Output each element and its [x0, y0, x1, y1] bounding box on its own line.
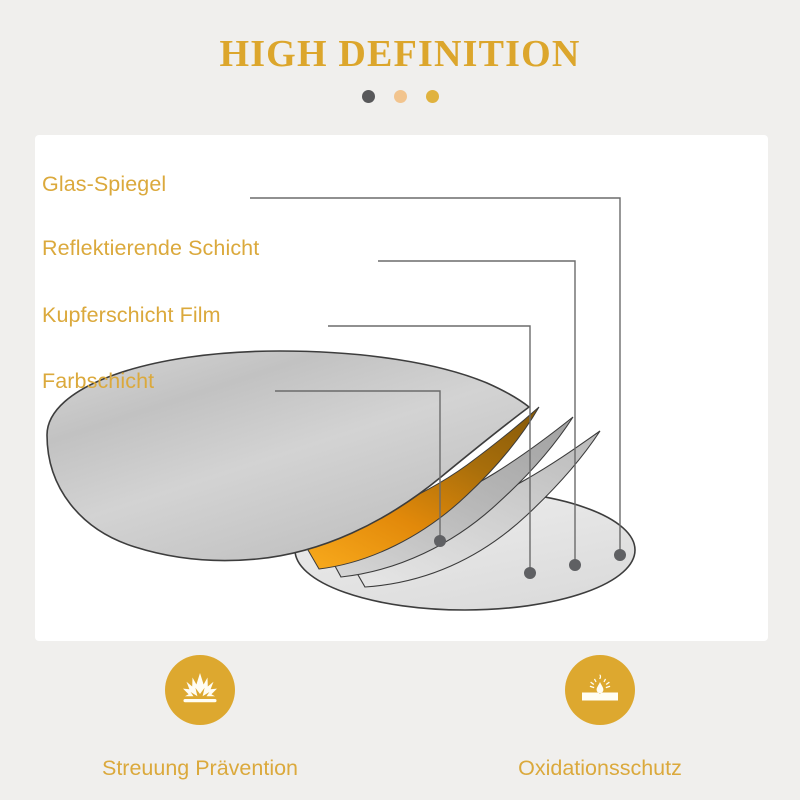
callout-label-glas-spiegel: Glas-Spiegel	[42, 172, 166, 197]
header: HIGH DEFINITION	[0, 0, 800, 135]
feature-label-2: Oxidationsschutz	[518, 756, 682, 781]
separator-dot-dark	[362, 90, 375, 103]
page-title: HIGH DEFINITION	[0, 32, 800, 76]
corrosion-drop-icon	[578, 668, 622, 712]
callout-label-kupferschicht-film: Kupferschicht Film	[42, 303, 221, 328]
callout-label-farbschicht: Farbschicht	[42, 369, 154, 394]
feature-oxidationsschutz: Oxidationsschutz	[400, 655, 800, 781]
callout-label-reflektierende-schicht: Reflektierende Schicht	[42, 236, 259, 261]
feature-list: Streuung Prävention	[0, 655, 800, 781]
feature-streuung-praevention: Streuung Prävention	[0, 655, 400, 781]
separator-dot-gold	[426, 90, 439, 103]
feature-badge-1	[165, 655, 235, 725]
infographic-page: HIGH DEFINITION	[0, 0, 800, 800]
feature-badge-2	[565, 655, 635, 725]
shatter-burst-icon	[178, 668, 222, 712]
dot-separator	[0, 90, 800, 103]
feature-label-1: Streuung Prävention	[102, 756, 298, 781]
separator-dot-peach	[394, 90, 407, 103]
